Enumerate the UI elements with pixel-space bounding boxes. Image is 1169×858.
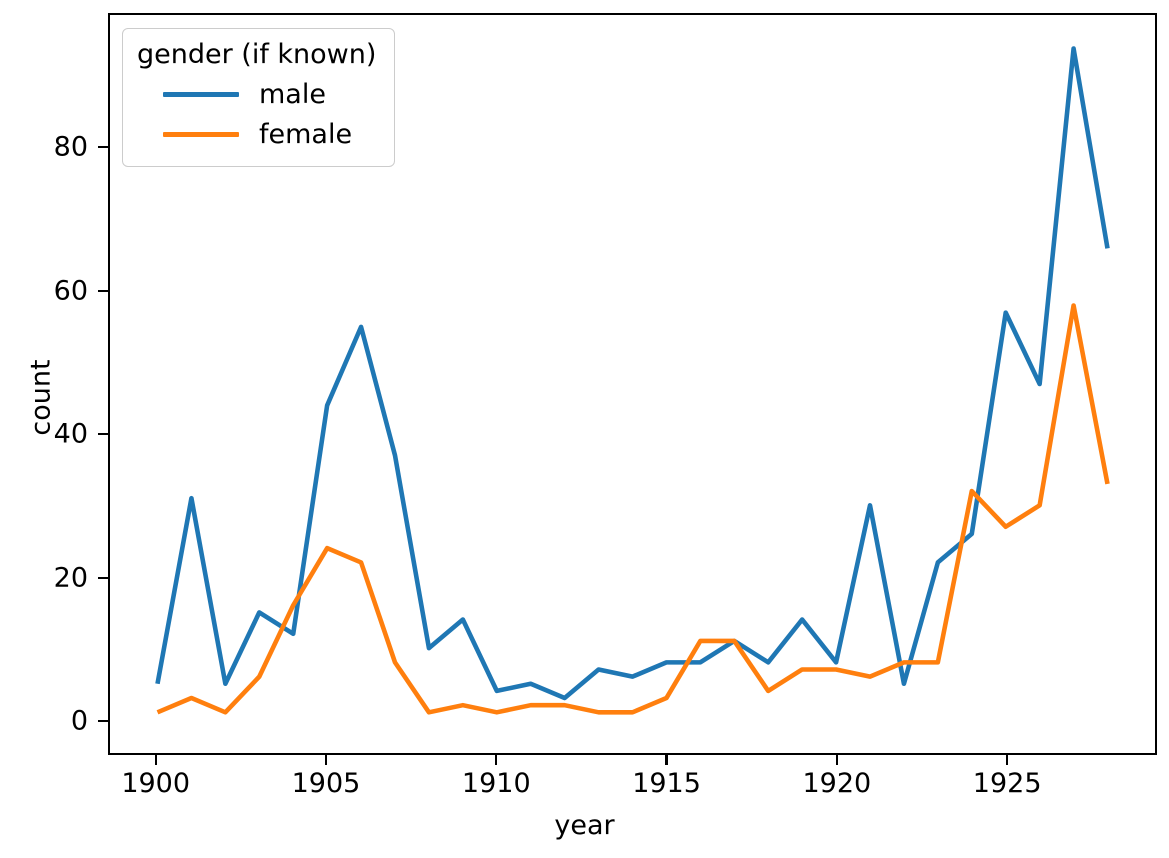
x-tick-mark <box>495 755 497 765</box>
x-tick-label: 1920 <box>802 770 871 797</box>
legend-swatch-female <box>163 132 239 137</box>
x-axis-label: year <box>0 812 1169 839</box>
line-series-female <box>157 305 1107 712</box>
x-tick-mark <box>1006 755 1008 765</box>
y-tick-mark <box>98 290 108 292</box>
x-tick-mark <box>836 755 838 765</box>
legend-swatch-male <box>163 92 239 97</box>
x-tick-label: 1905 <box>292 770 361 797</box>
y-tick-mark <box>98 577 108 579</box>
x-tick-label: 1910 <box>462 770 531 797</box>
y-axis-label: count <box>28 198 55 598</box>
x-tick-mark <box>155 755 157 765</box>
legend-label: male <box>259 81 326 108</box>
y-tick-mark <box>98 433 108 435</box>
y-tick-label: 20 <box>54 564 88 591</box>
x-tick-label: 1925 <box>973 770 1042 797</box>
legend-label: female <box>259 121 352 148</box>
y-tick-mark <box>98 720 108 722</box>
legend-title: gender (if known) <box>137 39 376 70</box>
legend-entries: malefemale <box>135 74 376 154</box>
legend-entry-male[interactable]: male <box>135 74 376 114</box>
y-tick-mark <box>98 146 108 148</box>
y-tick-label: 0 <box>71 708 88 735</box>
x-tick-mark <box>665 755 667 765</box>
x-tick-label: 1915 <box>632 770 701 797</box>
y-tick-label: 40 <box>54 421 88 448</box>
y-tick-label: 60 <box>54 277 88 304</box>
x-tick-mark <box>325 755 327 765</box>
chart-figure: 190019051910191519201925 020406080 year … <box>0 0 1169 858</box>
legend-entry-female[interactable]: female <box>135 114 376 154</box>
chart-legend: gender (if known) malefemale <box>122 28 395 167</box>
x-tick-label: 1900 <box>121 770 190 797</box>
y-tick-label: 80 <box>54 134 88 161</box>
